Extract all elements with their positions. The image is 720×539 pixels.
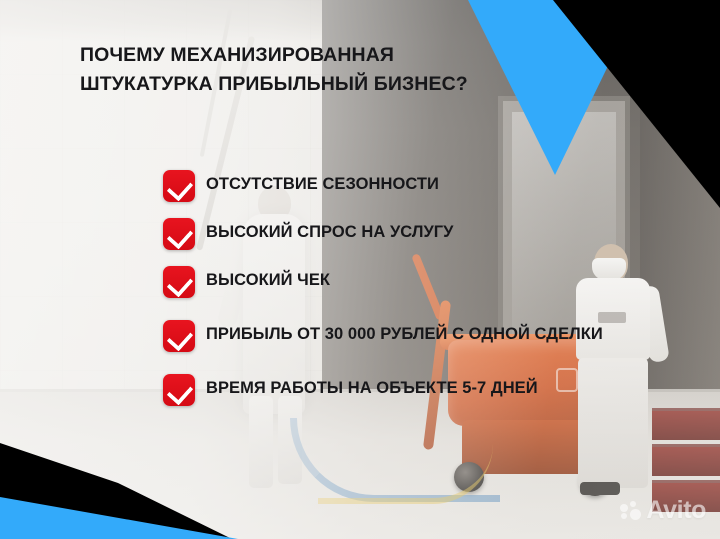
list-item: ВЫСОКИЙ ЧЕК — [163, 266, 683, 298]
benefits-list: ОТСУТСТВИЕ СЕЗОННОСТИ ВЫСОКИЙ СПРОС НА У… — [163, 170, 683, 406]
list-item-label: ВЫСОКИЙ ЧЕК — [206, 266, 330, 291]
check-icon — [163, 170, 195, 202]
check-icon — [163, 266, 195, 298]
check-icon — [163, 320, 195, 352]
check-icon — [163, 374, 195, 406]
check-icon — [163, 218, 195, 250]
avito-wordmark: Avito — [646, 496, 706, 525]
list-item-label: ВРЕМЯ РАБОТЫ НА ОБЪЕКТЕ 5-7 ДНЕЙ — [206, 374, 538, 399]
list-item: ВРЕМЯ РАБОТЫ НА ОБЪЕКТЕ 5-7 ДНЕЙ — [163, 374, 683, 406]
avito-dots-logo-icon — [620, 501, 641, 520]
list-item: ВЫСОКИЙ СПРОС НА УСЛУГУ — [163, 218, 683, 250]
promo-poster: ПОЧЕМУ МЕХАНИЗИРОВАННАЯ ШТУКАТУРКА ПРИБЫ… — [0, 0, 720, 539]
list-item-label: ВЫСОКИЙ СПРОС НА УСЛУГУ — [206, 218, 453, 243]
list-item: ПРИБЫЛЬ ОТ 30 000 РУБЛЕЙ С ОДНОЙ СДЕЛКИ — [163, 320, 683, 352]
list-item-label: ПРИБЫЛЬ ОТ 30 000 РУБЛЕЙ С ОДНОЙ СДЕЛКИ — [206, 320, 603, 345]
page-title: ПОЧЕМУ МЕХАНИЗИРОВАННАЯ ШТУКАТУРКА ПРИБЫ… — [80, 41, 510, 98]
avito-watermark: Avito — [620, 496, 706, 525]
list-item: ОТСУТСТВИЕ СЕЗОННОСТИ — [163, 170, 683, 202]
list-item-label: ОТСУТСТВИЕ СЕЗОННОСТИ — [206, 170, 439, 195]
